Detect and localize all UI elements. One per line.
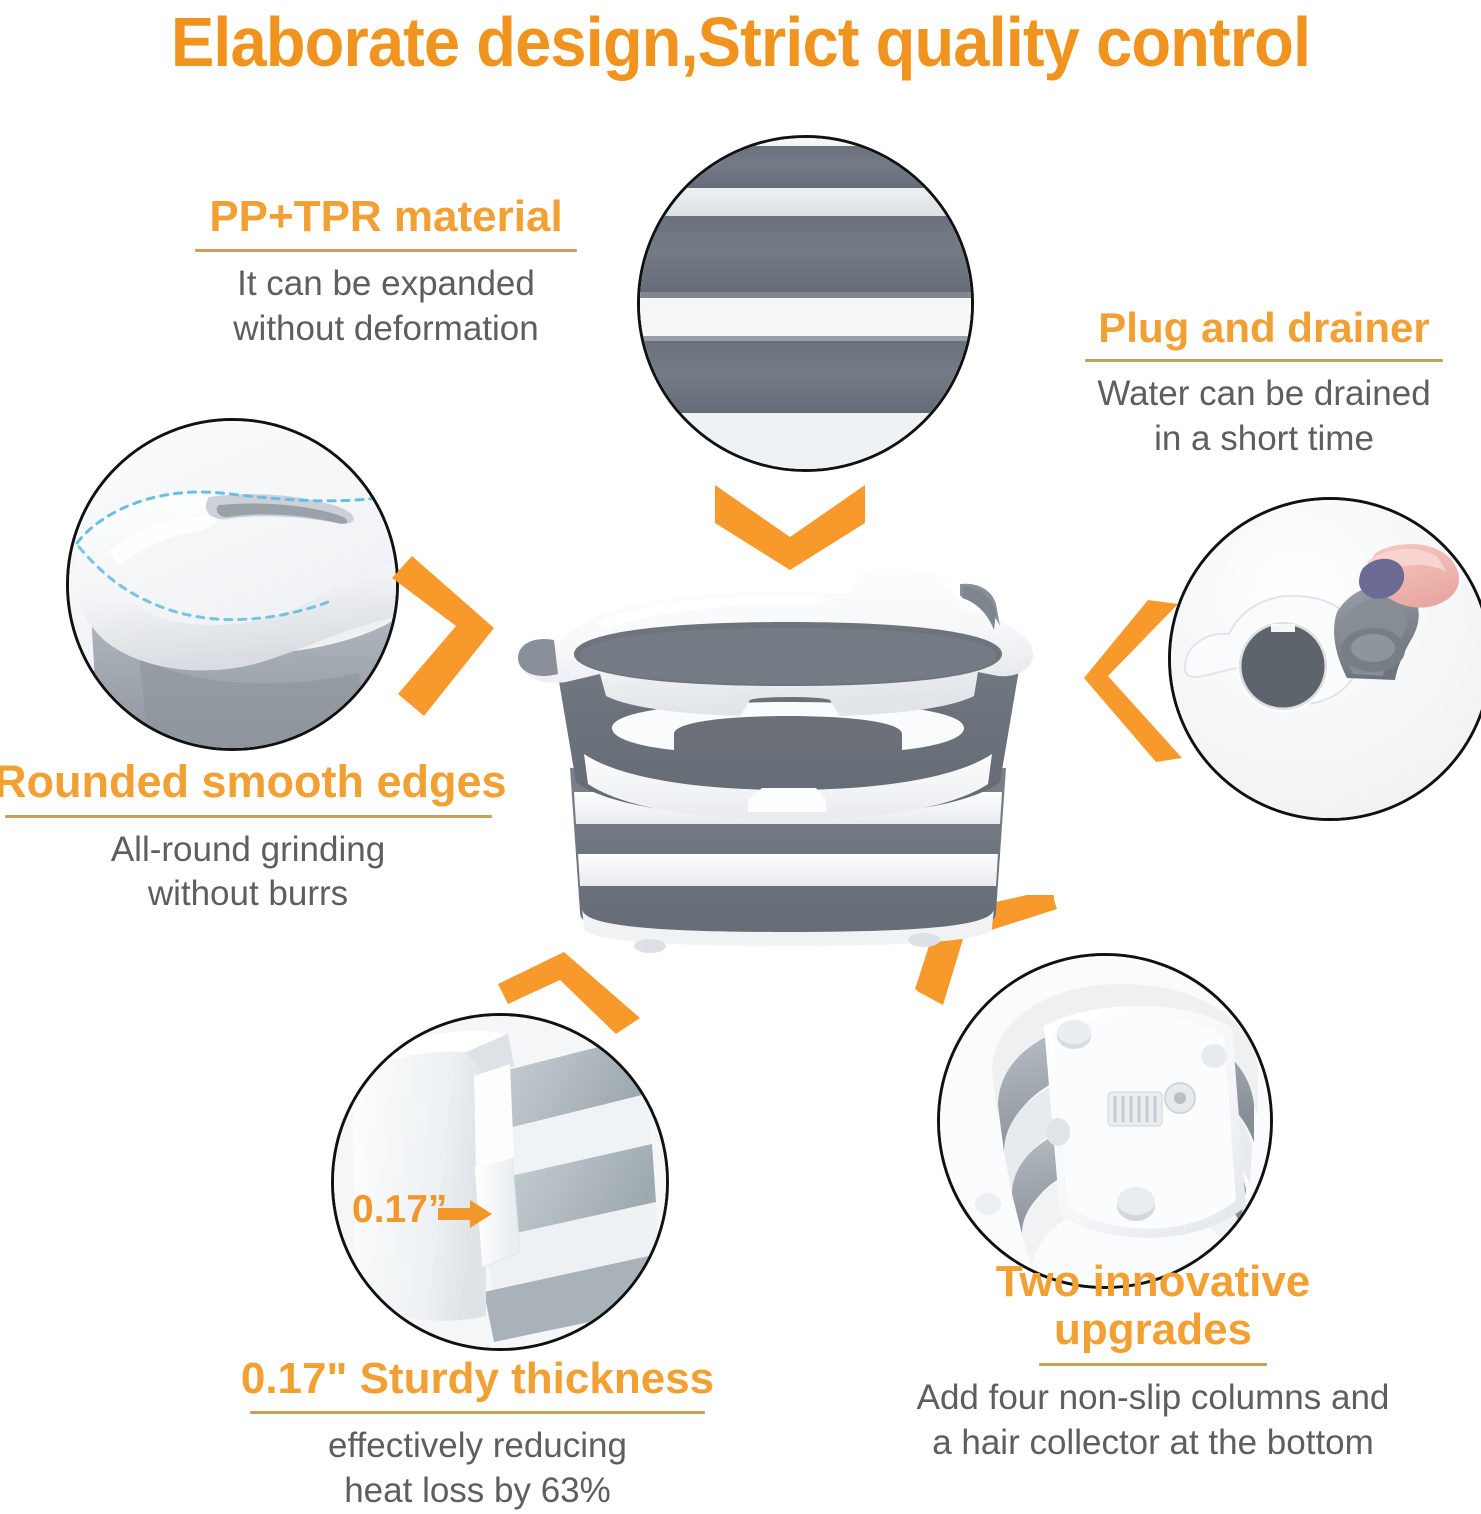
callout-rounded-smooth-edges: Rounded smooth edges All-round grinding … xyxy=(0,757,502,917)
callout-rule-thickness xyxy=(250,1411,705,1414)
callout-body-thickness-line2: heat loss by 63% xyxy=(230,1469,725,1514)
collapsible-basin-illustration xyxy=(500,556,1076,960)
callout-two-innovative-upgrades: Two innovative upgrades Add four non-sli… xyxy=(893,1258,1413,1465)
callout-body-edges-line2: without burrs xyxy=(0,872,502,917)
photo-striped-material-closeup xyxy=(637,135,974,472)
callout-body-plug-line2: in a short time xyxy=(1064,417,1464,462)
callout-body-edges-line1: All-round grinding xyxy=(0,828,502,873)
callout-body-upgrades-line1: Add four non-slip columns and xyxy=(893,1376,1413,1421)
callout-sturdy-thickness: 0.17" Sturdy thickness effectively reduc… xyxy=(230,1355,725,1514)
callout-pp-tpr-material: PP+TPR material It can be expanded witho… xyxy=(176,193,596,352)
chevron-right-icon xyxy=(388,548,500,720)
photo-finger-pulling-drain-plug xyxy=(1168,497,1481,821)
rounded-rim-image xyxy=(69,421,396,748)
callout-heading-material: PP+TPR material xyxy=(176,193,596,241)
callout-rule-plug xyxy=(1085,359,1443,362)
callout-heading-upgrades-line1: Two innovative xyxy=(893,1258,1413,1306)
thickness-measure-text: 0.17” xyxy=(352,1188,447,1231)
photo-rounded-rim-closeup xyxy=(66,418,399,751)
chevron-left-icon xyxy=(1080,598,1192,763)
product-collapsible-basin xyxy=(500,556,1076,960)
callout-body-thickness-line1: effectively reducing xyxy=(230,1424,725,1469)
page-title: Elaborate design,Strict quality control xyxy=(52,2,1429,82)
callout-rule-edges xyxy=(5,815,492,818)
callout-heading-thickness: 0.17" Sturdy thickness xyxy=(230,1355,725,1403)
callout-body-material-line2: without deformation xyxy=(176,307,596,352)
thickness-image: 0.17” xyxy=(334,1016,666,1348)
callout-body-plug-line1: Water can be drained xyxy=(1064,372,1464,417)
photo-wall-thickness-cross-section: 0.17” xyxy=(331,1013,669,1351)
callout-heading-upgrades-line2: upgrades xyxy=(893,1306,1413,1354)
striped-material-image xyxy=(640,138,971,469)
callout-body-material-line1: It can be expanded xyxy=(176,262,596,307)
callout-body-upgrades-line2: a hair collector at the bottom xyxy=(893,1421,1413,1466)
callout-heading-edges: Rounded smooth edges xyxy=(0,757,502,807)
callout-plug-and-drainer: Plug and drainer Water can be drained in… xyxy=(1064,305,1464,462)
callout-heading-plug: Plug and drainer xyxy=(1064,305,1464,351)
callout-rule-material xyxy=(195,249,577,252)
drain-plug-image xyxy=(1171,500,1481,818)
infographic-canvas: Elaborate design,Strict quality control xyxy=(0,0,1481,1500)
callout-rule-upgrades xyxy=(1039,1363,1267,1366)
